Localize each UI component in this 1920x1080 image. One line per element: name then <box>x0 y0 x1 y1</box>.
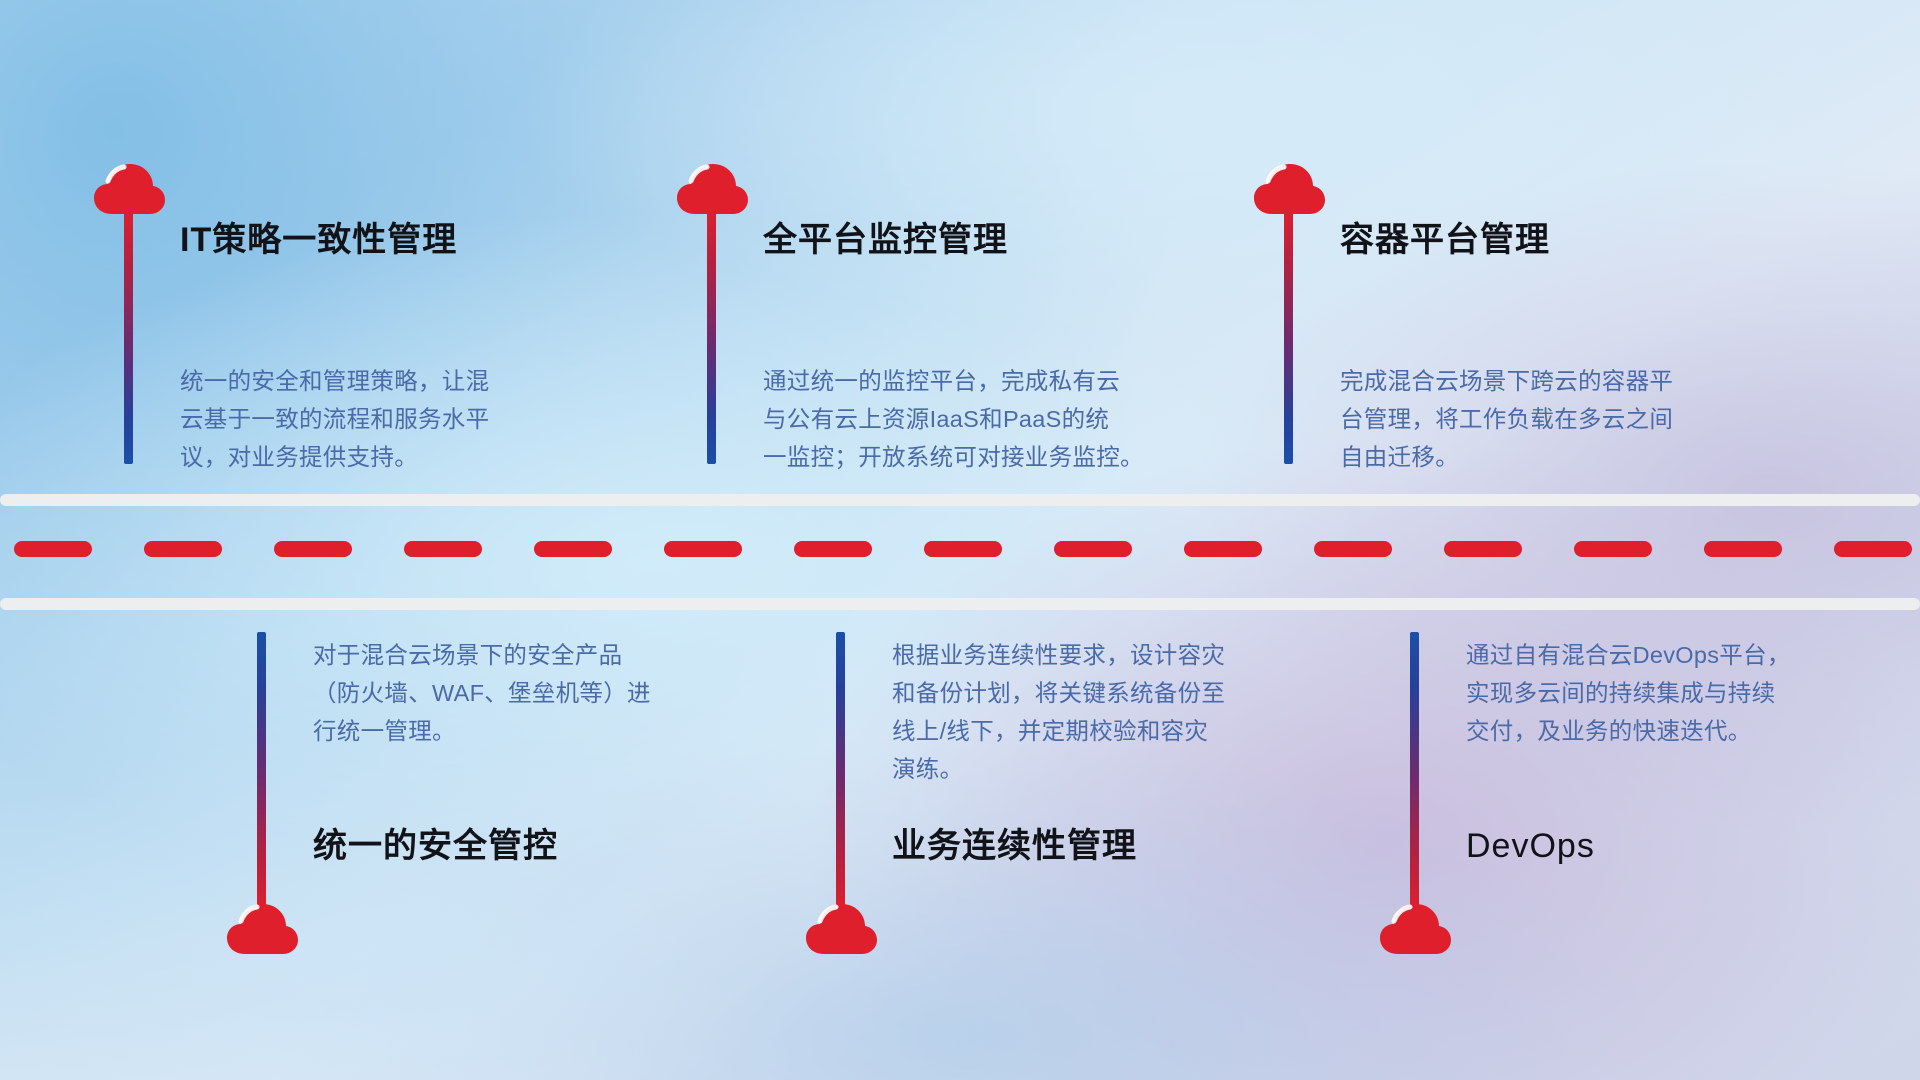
road-dash-segment <box>274 541 352 557</box>
road-dash-segment <box>404 541 482 557</box>
road-dash-segment <box>1054 541 1132 557</box>
pin-stem <box>257 632 266 912</box>
pin-stem <box>1410 632 1419 912</box>
road-dash-segment <box>1704 541 1782 557</box>
feature-description: 根据业务连续性要求，设计容灾 和备份计划，将关键系统备份至 线上/线下，并定期校… <box>892 636 1342 788</box>
cloud-icon <box>1378 900 1452 956</box>
feature-description: 对于混合云场景下的安全产品 （防火墙、WAF、堡垒机等）进 行统一管理。 <box>313 636 753 750</box>
feature-heading: 统一的安全管控 <box>313 828 558 865</box>
pin-stem <box>836 632 845 912</box>
road-dash-segment <box>1574 541 1652 557</box>
cloud-icon <box>804 900 878 956</box>
road-dash-segment <box>144 541 222 557</box>
road-center-dashes <box>0 541 1920 557</box>
infographic-canvas: IT策略一致性管理 统一的安全和管理策略，让混 云基于一致的流程和服务水平 议，… <box>0 0 1920 1080</box>
road-dash-segment <box>1444 541 1522 557</box>
feature-description: 完成混合云场景下跨云的容器平 台管理，将工作负载在多云之间 自由迁移。 <box>1340 362 1790 476</box>
feature-heading: 全平台监控管理 <box>763 222 1008 259</box>
road-dash-segment <box>1314 541 1392 557</box>
feature-heading: DevOps <box>1466 828 1595 865</box>
road-dash-segment <box>794 541 872 557</box>
pin-stem <box>707 206 716 464</box>
road-line-top <box>0 494 1920 506</box>
cloud-icon <box>225 900 299 956</box>
road-dash-segment <box>14 541 92 557</box>
road-dash-segment <box>664 541 742 557</box>
feature-description: 统一的安全和管理策略，让混 云基于一致的流程和服务水平 议，对业务提供支持。 <box>180 362 620 476</box>
road-line-bottom <box>0 598 1920 610</box>
feature-heading: 容器平台管理 <box>1340 222 1550 259</box>
feature-description: 通过自有混合云DevOps平台， 实现多云间的持续集成与持续 交付，及业务的快速… <box>1466 636 1906 750</box>
feature-heading: 业务连续性管理 <box>892 828 1137 865</box>
road-dash-segment <box>1834 541 1912 557</box>
pin-stem <box>1284 206 1293 464</box>
feature-description: 通过统一的监控平台，完成私有云 与公有云上资源IaaS和PaaS的统 一监控；开… <box>763 362 1223 476</box>
pin-stem <box>124 206 133 464</box>
road-dash-segment <box>1184 541 1262 557</box>
road-dash-segment <box>924 541 1002 557</box>
road-dash-segment <box>534 541 612 557</box>
feature-heading: IT策略一致性管理 <box>180 222 457 259</box>
